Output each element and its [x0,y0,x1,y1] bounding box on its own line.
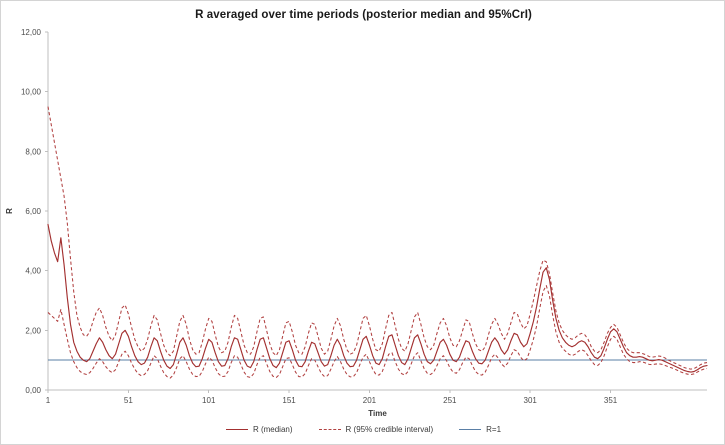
legend-label-median: R (median) [253,425,293,434]
legend-swatch-credible-interval [319,429,341,430]
x-axis-tick-label: 1 [46,396,51,405]
legend-swatch-reference [459,429,481,430]
x-axis-tick-label: 151 [282,396,296,405]
x-axis-tick-label: 201 [363,396,377,405]
y-axis-title: R [5,208,14,214]
legend-item-median[interactable]: R (median) [226,425,293,434]
y-axis-tick-label: 12,00 [21,28,42,37]
legend-item-credible-interval[interactable]: R (95% credible interval) [319,425,434,434]
y-axis-ticks: 0,002,004,006,008,0010,0012,00 [21,28,48,395]
y-axis-tick-label: 4,00 [25,267,41,276]
y-axis-tick-label: 8,00 [25,147,41,156]
y-axis-tick-label: 6,00 [25,207,41,216]
x-axis-tick-label: 301 [524,396,538,405]
y-axis-tick-label: 0,00 [25,386,41,395]
y-axis-tick-label: 10,00 [21,88,42,97]
x-axis-tick-label: 351 [604,396,618,405]
x-axis-title: Time [368,409,387,418]
x-axis-tick-label: 101 [202,396,216,405]
chart-container: R averaged over time periods (posterior … [0,0,725,445]
x-axis-tick-label: 51 [124,396,133,405]
x-axis-ticks: 151101151201251301351 [46,390,618,405]
legend-label-reference: R=1 [486,425,501,434]
legend-label-credible-interval: R (95% credible interval) [346,425,434,434]
series-ci-upper [48,107,707,370]
chart-plot-area: 0,002,004,006,008,0010,0012,00 151101151… [1,1,725,445]
chart-legend: R (median) R (95% credible interval) R=1 [1,425,725,434]
y-axis-tick-label: 2,00 [25,326,41,335]
legend-swatch-median [226,429,248,430]
x-axis-tick-label: 251 [443,396,457,405]
legend-item-reference[interactable]: R=1 [459,425,501,434]
